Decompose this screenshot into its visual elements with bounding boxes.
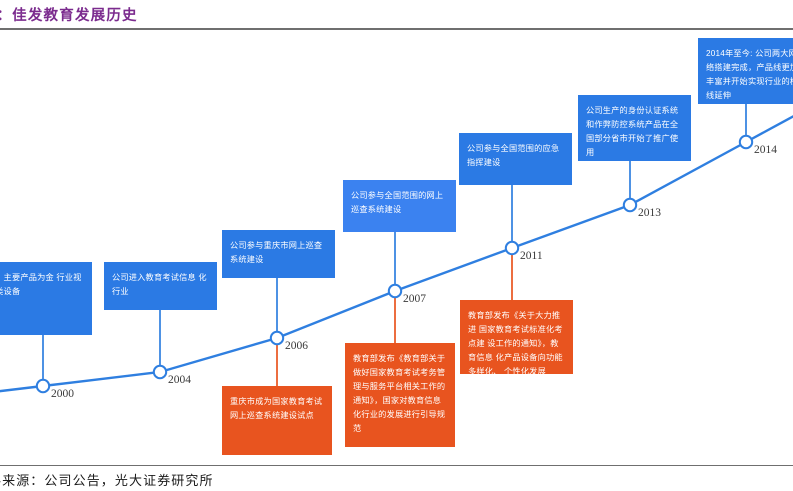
footer-divider [0,465,793,466]
callout-c2007[interactable]: 公司参与全国范围的网上 巡查系统建设 [343,180,456,232]
timeline-node-2011[interactable] [506,242,518,254]
year-label-2011: 2011 [520,250,543,262]
timeline-node-2004[interactable] [154,366,166,378]
timeline-node-2014[interactable] [740,136,752,148]
source-note: 料来源：公司公告，光大证券研究所 [0,470,214,489]
callout-c2013[interactable]: 公司生产的身份认证系统 和作弊防控系统产品在全 国部分省市开始了推广使 用 [578,95,691,161]
timeline-node-2013[interactable] [624,199,636,211]
timeline-node-2000[interactable] [37,380,49,392]
callout-c2014[interactable]: 2014年至今: 公司两大网 络搭建完成，产品线更加 丰富并开始实现行业的横 线… [698,38,793,104]
year-label-2014: 2014 [754,144,777,156]
year-label-2006: 2006 [285,340,308,352]
year-label-2013: 2013 [638,207,661,219]
callout-c2004[interactable]: 公司进入教育考试信息 化行业 [104,262,217,310]
year-label-2007: 2007 [403,293,426,305]
year-label-2004: 2004 [168,374,191,386]
callout-c2011b[interactable]: 教育部发布《关于大力推进 国家教育考试标准化考点建 设工作的通知》，教育信息 化… [460,300,573,374]
callout-c2006b[interactable]: 重庆市成为国家教育考试 网上巡查系统建设试点 [222,386,332,455]
timeline-node-2006[interactable] [271,332,283,344]
year-label-2000: 2000 [51,388,74,400]
callout-c2006[interactable]: 公司参与重庆市网上巡查 系统建设 [222,230,335,278]
callout-c2007b[interactable]: 教育部发布《教育部关于 做好国家教育考试考务管 理与服务平台相关工作的 通知》，… [345,343,455,447]
timeline-node-2007[interactable] [389,285,401,297]
figure-canvas: 8：佳发教育发展历史 司成立，主要产品为金 行业视频监控类设备公司进入教育考试信… [0,0,793,491]
callout-c2011[interactable]: 公司参与全国范围的应急 指挥建设 [459,133,572,185]
callout-c2000[interactable]: 司成立，主要产品为金 行业视频监控类设备 [0,262,92,335]
